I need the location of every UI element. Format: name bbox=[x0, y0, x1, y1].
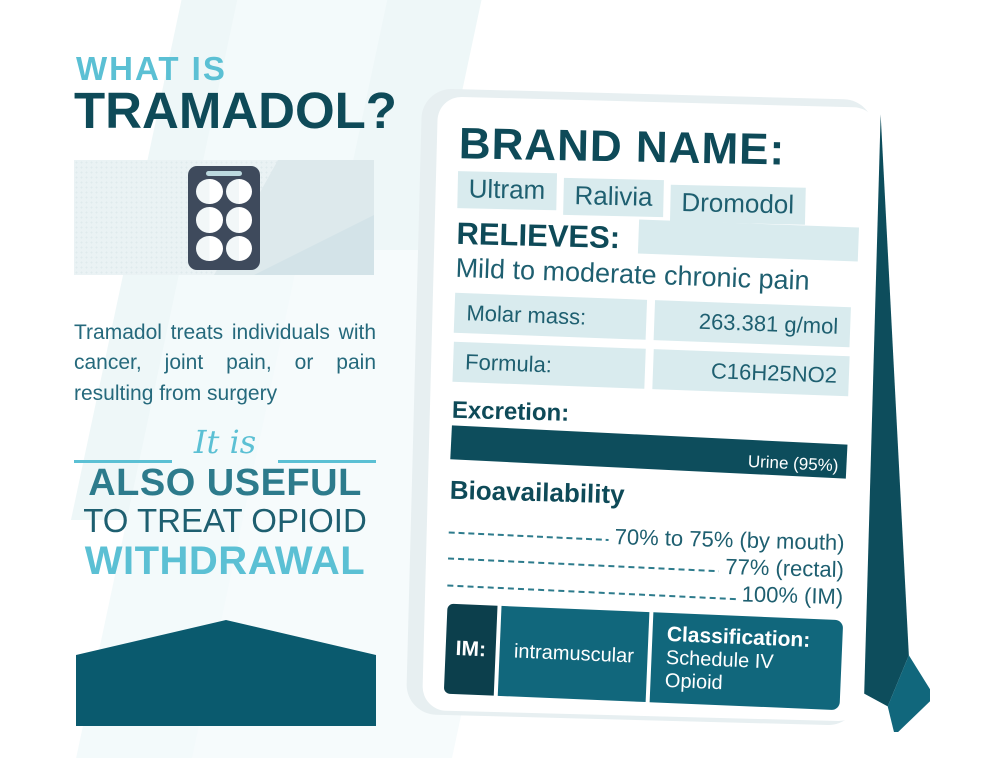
classification-block: Classification: Schedule IV Opioid bbox=[650, 613, 843, 711]
row-value: C16H25NO2 bbox=[652, 349, 849, 396]
kicker-text: WHAT IS bbox=[76, 52, 227, 85]
withdrawal-heading: WITHDRAWAL bbox=[74, 540, 376, 582]
script-text: It is bbox=[194, 426, 256, 458]
row-key: Molar mass: bbox=[454, 293, 647, 340]
row-value: 263.381 g/mol bbox=[654, 300, 851, 347]
pill-illustration-panel bbox=[74, 160, 374, 275]
blister-pack-icon bbox=[188, 166, 260, 270]
body-paragraph: Tramadol treats individuals with cancer,… bbox=[74, 318, 376, 409]
pill-icon bbox=[196, 179, 223, 205]
pill-icon bbox=[226, 179, 253, 205]
row-key: Formula: bbox=[452, 342, 645, 389]
brand-chip[interactable]: Dromodol bbox=[670, 185, 806, 225]
also-useful-heading: ALSO USEFUL bbox=[74, 464, 376, 503]
bioavailability-value: 77% (rectal) bbox=[719, 555, 844, 582]
im-meaning: intramuscular bbox=[498, 606, 650, 702]
pill-icon bbox=[196, 236, 223, 262]
excretion-value: Urine (95%) bbox=[747, 453, 839, 476]
brand-chip[interactable]: Ralivia bbox=[563, 178, 664, 218]
table-row: Formula: C16H25NO2 bbox=[452, 342, 849, 397]
table-row: Molar mass: 263.381 g/mol bbox=[454, 293, 851, 348]
bioavailability-list: 70% to 75% (by mouth) 77% (rectal) 100% … bbox=[447, 518, 845, 609]
classification-value: Schedule IV Opioid bbox=[664, 647, 827, 700]
page-title: TRAMADOL? bbox=[74, 84, 397, 138]
relieves-label: RELIEVES: bbox=[456, 218, 620, 253]
brand-name-title: BRAND NAME: bbox=[458, 122, 855, 174]
bioavailability-value: 100% (IM) bbox=[735, 582, 843, 609]
relieves-bar bbox=[638, 220, 859, 262]
to-treat-opioid-line: TO TREAT OPIOID bbox=[74, 504, 376, 539]
blister-tab bbox=[206, 171, 242, 176]
bioavailability-title: Bioavailability bbox=[449, 476, 846, 515]
leader-line bbox=[447, 585, 756, 602]
pill-icon bbox=[226, 207, 253, 233]
info-card: BRAND NAME: Ultram Ralivia Dromodol RELI… bbox=[422, 96, 878, 721]
pill-icon bbox=[196, 207, 223, 233]
im-abbreviation: IM: bbox=[444, 604, 498, 696]
tent-card: BRAND NAME: Ultram Ralivia Dromodol RELI… bbox=[400, 80, 1000, 740]
brand-chip[interactable]: Ultram bbox=[457, 171, 556, 210]
pill-icon bbox=[226, 236, 253, 262]
left-column: WHAT IS TRAMADOL? Tramadol treats indivi… bbox=[0, 0, 400, 758]
bottom-row: IM: intramuscular Classification: Schedu… bbox=[444, 604, 843, 711]
brand-chip-list: Ultram Ralivia Dromodol bbox=[457, 171, 854, 219]
leader-line bbox=[448, 558, 765, 575]
pentagon-shape bbox=[76, 620, 376, 726]
